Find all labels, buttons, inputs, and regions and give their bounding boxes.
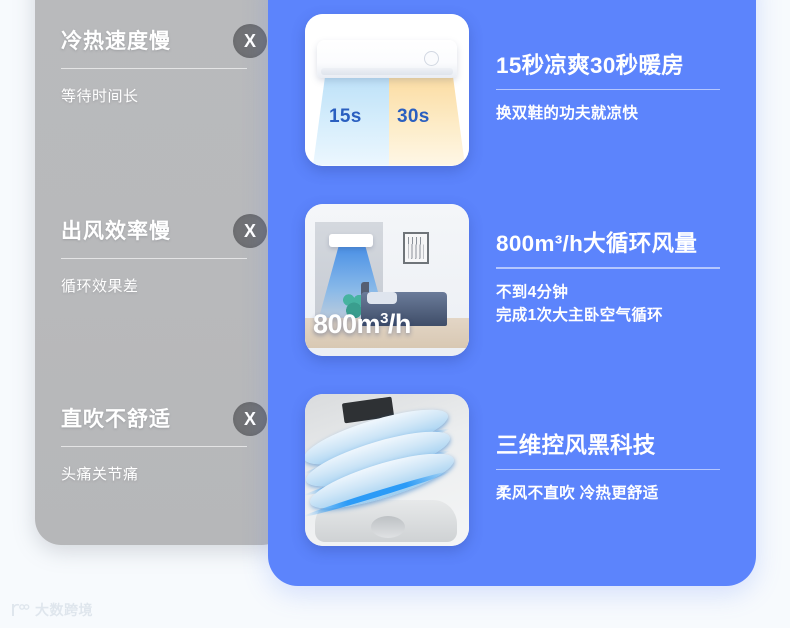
divider bbox=[496, 267, 720, 268]
feature-panel: 15s 30s 15秒凉爽30秒暖房 换双鞋的功夫就凉快 bbox=[268, 0, 756, 586]
feature-title: 15秒凉爽30秒暖房 bbox=[496, 48, 735, 80]
feature-subtitle: 柔风不直吹 冷热更舒适 bbox=[496, 482, 735, 505]
divider bbox=[496, 89, 720, 90]
feature-title: 800m³/h大循环风量 bbox=[496, 226, 735, 258]
air-conditioner-unit-icon bbox=[329, 234, 373, 247]
unit-knob-icon bbox=[424, 51, 439, 66]
airflow-volume-overlay-label: 800m3/h bbox=[313, 309, 411, 340]
overlay-superscript: 3 bbox=[380, 310, 388, 327]
pain-point-title: 出风效率慢 bbox=[61, 220, 171, 243]
divider bbox=[61, 68, 247, 69]
feature-row: 三维控风黑科技 柔风不直吹 冷热更舒适 bbox=[305, 392, 735, 547]
pain-point-header: 冷热速度慢 X bbox=[61, 22, 261, 62]
feature-row: 800m3/h 800m³/h大循环风量 不到4分钟 完成1次大主卧空气循环 bbox=[305, 202, 735, 357]
watermark-text: 大数跨境 bbox=[35, 600, 93, 620]
pain-point-title: 冷热速度慢 bbox=[61, 30, 171, 53]
promo-page: 冷热速度慢 X 等待时间长 出风效率慢 X 循环效果差 直吹不舒适 X 头痛关节… bbox=[0, 0, 790, 628]
feature-subtitle-line: 不到4分钟 bbox=[496, 281, 735, 304]
feature-thumbnail-spiral-airflow bbox=[305, 394, 469, 546]
x-badge-icon: X bbox=[233, 402, 267, 436]
watermark: 大数跨境 bbox=[10, 600, 93, 620]
feature-thumbnail-ac-airflow: 15s 30s bbox=[305, 14, 469, 166]
overlay-value: 800m bbox=[313, 309, 380, 339]
cool-time-label: 15s bbox=[329, 106, 362, 128]
divider bbox=[61, 446, 247, 447]
pain-point-item: 冷热速度慢 X 等待时间长 bbox=[61, 22, 261, 106]
air-conditioner-unit-icon bbox=[317, 40, 457, 78]
pain-point-subtitle: 等待时间长 bbox=[61, 85, 261, 106]
divider bbox=[61, 258, 247, 259]
pain-point-subtitle: 循环效果差 bbox=[61, 275, 261, 296]
pain-point-subtitle: 头痛关节痛 bbox=[61, 463, 261, 484]
feature-title: 三维控风黑科技 bbox=[496, 428, 735, 460]
warm-time-label: 30s bbox=[397, 106, 430, 128]
wall-picture-frame-icon bbox=[403, 232, 429, 264]
feature-text-block: 800m³/h大循环风量 不到4分钟 完成1次大主卧空气循环 bbox=[496, 226, 735, 332]
feature-subtitle-line: 完成1次大主卧空气循环 bbox=[496, 304, 735, 327]
pain-point-item: 出风效率慢 X 循环效果差 bbox=[61, 212, 261, 296]
feature-text-block: 三维控风黑科技 柔风不直吹 冷热更舒适 bbox=[496, 428, 735, 511]
pain-point-item: 直吹不舒适 X 头痛关节痛 bbox=[61, 400, 261, 484]
pain-point-panel: 冷热速度慢 X 等待时间长 出风效率慢 X 循环效果差 直吹不舒适 X 头痛关节… bbox=[35, 0, 288, 545]
pillow-shape bbox=[367, 292, 397, 304]
feature-row: 15s 30s 15秒凉爽30秒暖房 换双鞋的功夫就凉快 bbox=[305, 12, 735, 167]
divider bbox=[496, 469, 720, 470]
pain-point-title: 直吹不舒适 bbox=[61, 408, 171, 431]
pain-point-header: 直吹不舒适 X bbox=[61, 400, 261, 440]
feature-subtitle: 不到4分钟 完成1次大主卧空气循环 bbox=[496, 281, 735, 327]
feature-subtitle: 换双鞋的功夫就凉快 bbox=[496, 102, 735, 125]
overlay-unit: /h bbox=[388, 309, 411, 339]
fan-outlet-shape bbox=[371, 516, 405, 538]
feature-text-block: 15秒凉爽30秒暖房 换双鞋的功夫就凉快 bbox=[496, 48, 735, 131]
x-badge-icon: X bbox=[233, 24, 267, 58]
pain-point-header: 出风效率慢 X bbox=[61, 212, 261, 252]
circle-logo-icon bbox=[10, 602, 30, 618]
feature-thumbnail-bedroom-airflow: 800m3/h bbox=[305, 204, 469, 356]
x-badge-icon: X bbox=[233, 214, 267, 248]
